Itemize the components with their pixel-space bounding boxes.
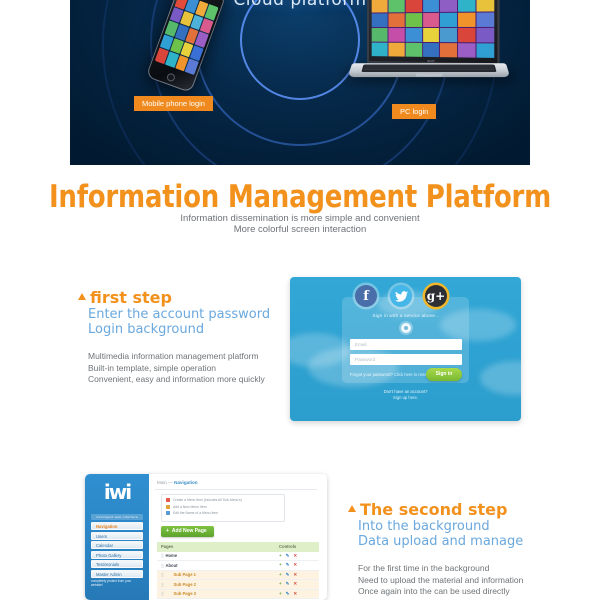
googleplus-glyph: g+ — [427, 289, 445, 303]
avatar — [401, 323, 411, 333]
laptop-image: acer — [346, 0, 506, 90]
sign-in-button[interactable]: Sign in — [426, 368, 462, 381]
row-label: Home — [165, 553, 177, 558]
step-two-body-line2: Need to upload the material and informat… — [358, 575, 568, 587]
login-screenshot-panel: f g+ Sign in with a service above... Ema… — [290, 277, 521, 421]
step-two-body: For the first time in the background Nee… — [358, 563, 568, 598]
breadcrumb-main[interactable]: Main — [157, 480, 167, 485]
edit-icon[interactable]: ✎ — [286, 592, 290, 597]
googleplus-icon[interactable]: g+ — [425, 285, 447, 307]
cms-sidebar: iwi intelligent web interface Navigation… — [85, 474, 149, 600]
social-signin-hint: Sign in with a service above... — [346, 313, 466, 318]
hero-banner: Cloud platform acer — [70, 0, 530, 165]
page-subtitle-line1: Information dissemination is more simple… — [0, 213, 600, 224]
breadcrumb: Main — Navigation — [157, 480, 198, 485]
email-field[interactable]: Email — [350, 339, 462, 350]
step-two-block: The second step Into the background Data… — [348, 500, 568, 598]
delete-icon[interactable]: ✕ — [293, 554, 297, 559]
edit-icon — [166, 511, 170, 515]
cms-nav-list: Navigation Users Calendar Photo Gallery … — [91, 522, 143, 579]
laptop-lid: acer — [367, 0, 500, 65]
drag-handle-icon[interactable]: ⣿ — [161, 572, 163, 577]
edit-icon[interactable]: ✎ — [286, 582, 290, 587]
breadcrumb-divider — [155, 489, 317, 490]
delete-icon — [166, 498, 170, 502]
sidebar-item-users[interactable]: Users — [91, 532, 143, 540]
table-row[interactable]: ⣿ Sub Page 1 + ✎ ✕ — [157, 571, 319, 581]
table-header-row: Pages Controls — [157, 542, 319, 552]
page-title: Information Management Platform — [48, 179, 552, 215]
step-one-body: Multimedia information management platfo… — [88, 351, 278, 386]
sidebar-item-photo-gallery[interactable]: Photo Gallery — [91, 551, 143, 559]
facebook-glyph: f — [363, 289, 369, 304]
table-row[interactable]: ⣿ Home + ✎ ✕ — [157, 552, 319, 562]
pc-login-tag[interactable]: PC login — [392, 104, 436, 119]
laptop-keyboard — [361, 65, 496, 73]
row-label: Sub Page 3 — [165, 591, 196, 596]
tip-text: Edit the Name of a Menu Item — [173, 511, 218, 515]
sidebar-item-master-admin[interactable]: Master Admin — [91, 570, 143, 578]
drag-handle-icon[interactable]: ⣿ — [161, 582, 163, 587]
sidebar-item-calendar[interactable]: Calendar — [91, 541, 143, 549]
column-header-controls: Controls — [279, 544, 319, 549]
breadcrumb-current: Navigation — [174, 480, 197, 485]
facebook-icon[interactable]: f — [355, 285, 377, 307]
laptop-trackpad — [416, 74, 443, 77]
laptop-base — [348, 63, 510, 77]
delete-icon[interactable]: ✕ — [293, 573, 297, 578]
no-account-text: Don't have an account? Sign up here. — [342, 389, 469, 401]
row-controls: + ✎ ✕ — [279, 582, 319, 587]
add-icon[interactable]: + — [279, 582, 282, 587]
drag-handle-icon[interactable]: ⣿ — [161, 563, 163, 568]
step-two-heading: The second step — [348, 500, 568, 519]
step-one-block: first step Enter the account password Lo… — [78, 288, 278, 386]
password-field[interactable]: Password — [350, 354, 462, 365]
twitter-icon[interactable] — [390, 285, 412, 307]
forgot-password-text: Forgot your password? Click here to rese… — [350, 372, 432, 377]
edit-icon[interactable]: ✎ — [286, 563, 290, 568]
add-icon[interactable]: + — [279, 554, 282, 559]
cms-logo-text: iwi — [104, 480, 130, 504]
pages-table: Pages Controls ⣿ Home + ✎ ✕ — [157, 542, 319, 600]
cms-main-content: Main — Navigation Create a Menu item (in… — [149, 474, 327, 600]
row-label-cell: ⣿ About — [157, 563, 279, 568]
delete-icon[interactable]: ✕ — [293, 563, 297, 568]
breadcrumb-separator: — — [168, 480, 173, 485]
add-icon[interactable]: + — [279, 592, 282, 597]
landing-page: Cloud platform acer — [0, 0, 600, 600]
row-label-cell: ⣿ Sub Page 1 — [157, 572, 279, 577]
edit-icon[interactable]: ✎ — [286, 554, 290, 559]
step-one-heading: first step — [78, 288, 278, 307]
triangle-up-icon — [348, 505, 356, 512]
list-item: Create a Menu item (includes All Sub-Men… — [166, 498, 280, 502]
column-header-pages: Pages — [157, 544, 279, 549]
step-one-body-line2: Built-in template, simple operation — [88, 363, 278, 375]
cms-logo[interactable]: iwi intelligent web interface — [91, 480, 143, 508]
step-one-body-line1: Multimedia information management platfo… — [88, 351, 278, 363]
social-login-buttons: f g+ — [355, 285, 447, 307]
row-controls: + ✎ ✕ — [279, 563, 319, 568]
row-label-cell: ⣿ Sub Page 2 — [157, 582, 279, 587]
table-row[interactable]: ⣿ About + ✎ ✕ — [157, 561, 319, 571]
row-label: About — [165, 563, 177, 568]
row-controls: + ✎ ✕ — [279, 573, 319, 578]
sidebar-item-testimonials[interactable]: Testimonials — [91, 560, 143, 568]
cloud-shape — [480, 361, 521, 395]
sidebar-item-navigation[interactable]: Navigation — [91, 522, 143, 530]
tip-text: Create a Menu item (includes All Sub-Men… — [173, 498, 242, 502]
table-row[interactable]: ⣿ Sub Page 2 + ✎ ✕ — [157, 580, 319, 590]
add-new-page-label: Add New Page — [172, 528, 207, 534]
drag-handle-icon[interactable]: ⣿ — [161, 591, 163, 596]
phone-home-button-icon — [166, 72, 176, 82]
delete-icon[interactable]: ✕ — [293, 592, 297, 597]
add-icon[interactable]: + — [279, 563, 282, 568]
step-two-body-line1: For the first time in the background — [358, 563, 568, 575]
row-controls: + ✎ ✕ — [279, 592, 319, 597]
delete-icon[interactable]: ✕ — [293, 582, 297, 587]
step-one-title: first step — [90, 288, 172, 307]
triangle-up-icon — [78, 293, 86, 300]
cms-screenshot-panel: iwi intelligent web interface Navigation… — [85, 474, 327, 600]
row-label-cell: ⣿ Home — [157, 553, 279, 558]
twitter-bird-glyph — [395, 291, 408, 302]
forgot-password-label: Forgot your password? — [350, 372, 393, 377]
step-one-sub-line2: Login background — [88, 322, 278, 337]
laptop-screen — [372, 0, 495, 58]
add-icon — [166, 505, 170, 509]
row-label: Sub Page 2 — [165, 582, 196, 587]
add-icon[interactable]: + — [279, 573, 282, 578]
mobile-login-tag[interactable]: Mobile phone login — [134, 96, 213, 111]
step-one-body-line3: Convenient, easy and information more qu… — [88, 374, 278, 386]
step-two-title: The second step — [360, 500, 507, 519]
list-item: Add a New Menu Item — [166, 505, 280, 509]
step-two-sub-line1: Into the background — [358, 519, 568, 534]
list-item: Edit the Name of a Menu Item — [166, 511, 280, 515]
row-label: Sub Page 1 — [165, 572, 196, 577]
no-account-label: Don't have an account? — [384, 389, 428, 394]
plus-icon: + — [166, 528, 169, 534]
row-label-cell: ⣿ Sub Page 3 — [157, 591, 279, 596]
tip-text: Add a New Menu Item — [173, 505, 207, 509]
table-row[interactable]: ⣿ Sub Page 3 + ✎ ✕ — [157, 590, 319, 600]
cms-tips-box: Create a Menu item (includes All Sub-Men… — [161, 494, 285, 522]
cms-menu-header — [91, 514, 143, 520]
drag-handle-icon[interactable]: ⣿ — [161, 553, 163, 558]
edit-icon[interactable]: ✎ — [286, 573, 290, 578]
step-two-body-line3: Once again into the can be used directly — [358, 586, 568, 598]
add-new-page-button[interactable]: +Add New Page — [161, 526, 214, 537]
step-two-sub-line2: Data upload and manage — [358, 534, 568, 549]
step-one-sub-line1: Enter the account password — [88, 307, 278, 322]
cms-sidebar-note: completely protect from your website! — [91, 579, 143, 588]
sign-up-link[interactable]: Sign up here. — [393, 395, 418, 400]
page-subtitle-line2: More colorful screen interaction — [0, 224, 600, 235]
row-controls: + ✎ ✕ — [279, 554, 319, 559]
